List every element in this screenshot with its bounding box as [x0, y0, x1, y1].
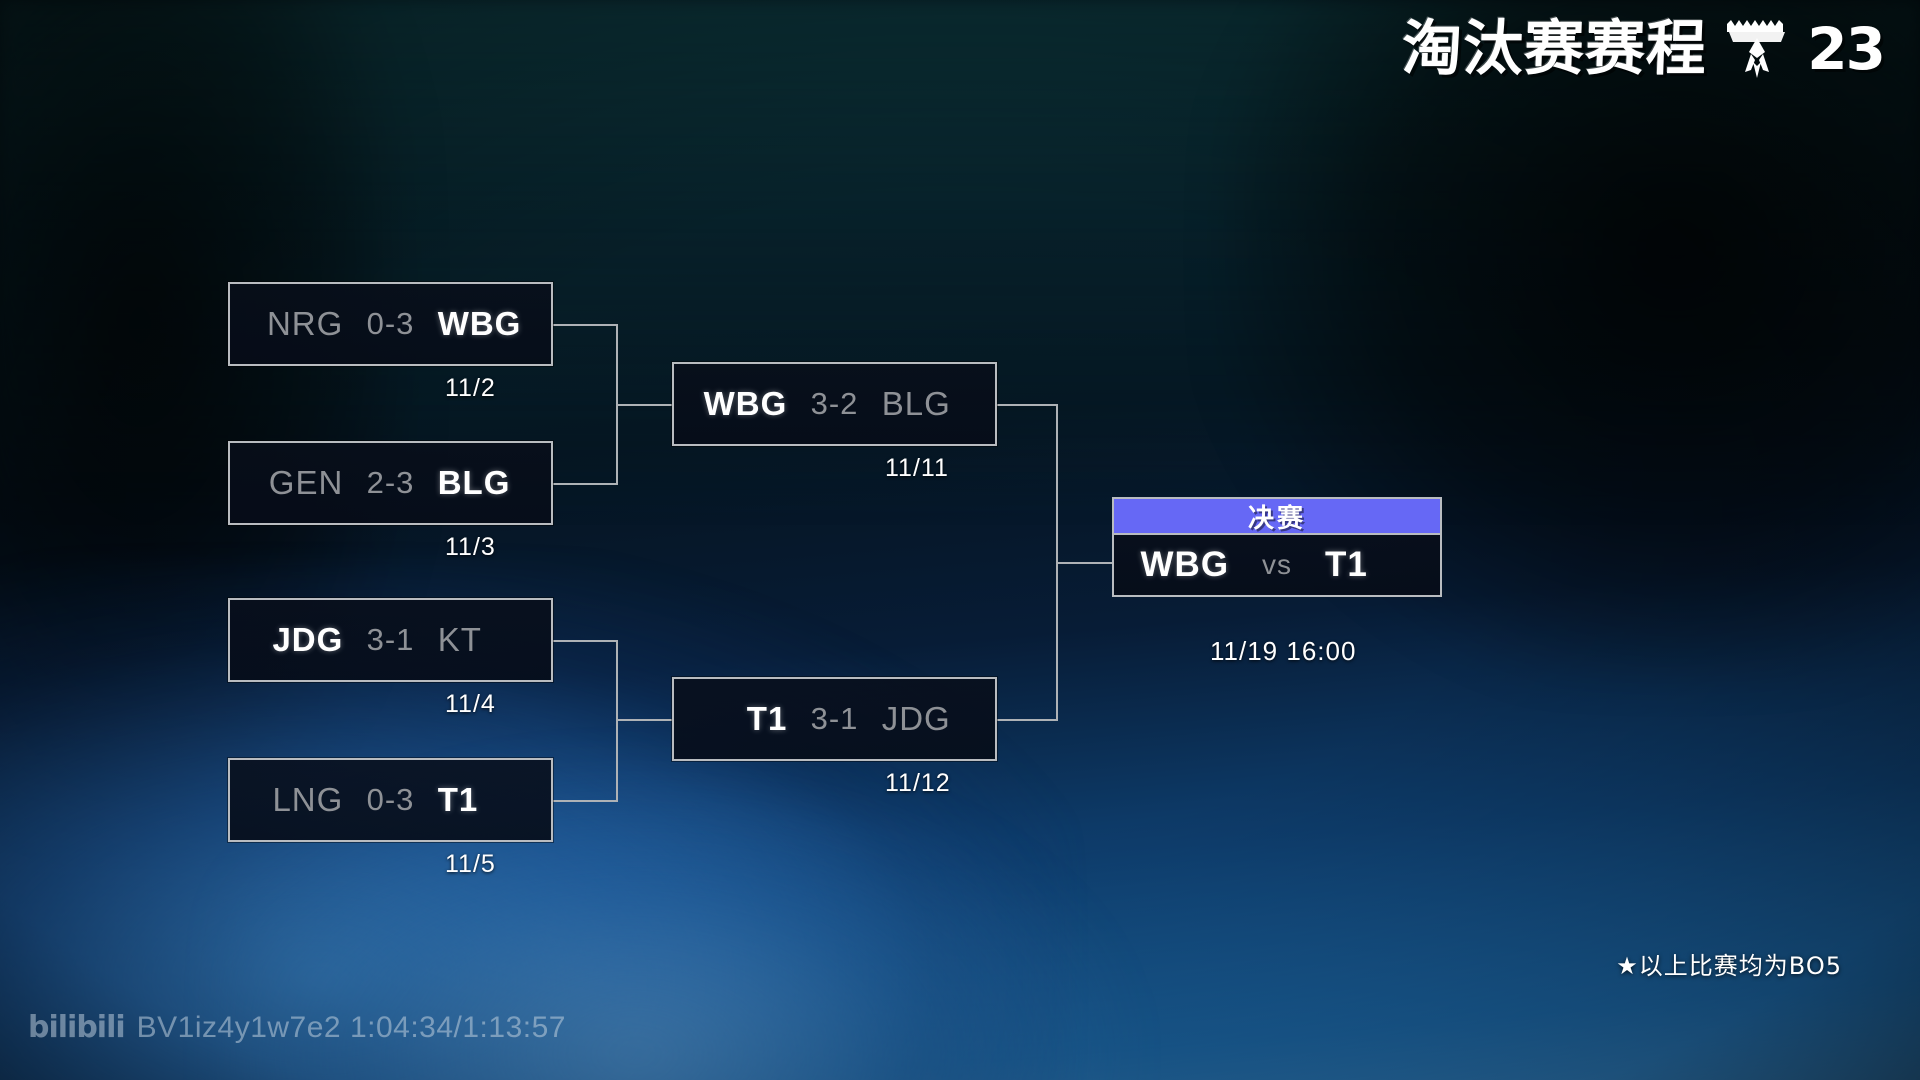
connector-sf1-to-final — [997, 404, 1057, 406]
match-row: LNG 0-3 T1 — [230, 781, 551, 819]
match-score: 3-1 — [343, 622, 437, 658]
final-label: 决赛 — [1248, 498, 1306, 535]
match-team-left: T1 — [674, 700, 787, 738]
match-box-semifinal-2[interactable]: T1 3-1 JDG — [672, 677, 997, 761]
match-row: JDG 3-1 KT — [230, 621, 551, 659]
match-team-right: BLG — [882, 385, 995, 423]
connector-qf3-out — [553, 640, 617, 642]
footnote-bo5: ★以上比赛均为BO5 — [1616, 946, 1842, 981]
page-title: 淘汰赛赛程 — [1401, 19, 1708, 79]
match-score: 0-3 — [343, 306, 437, 342]
connector-qf1-out — [553, 324, 617, 326]
match-team-right: KT — [438, 621, 551, 659]
broadcast-graphic: 淘汰赛赛程 23 NRG — [0, 0, 1920, 1080]
match-date-final: 11/19 16:00 — [1210, 636, 1356, 667]
match-date-quarterfinal-4: 11/5 — [445, 850, 496, 879]
match-team-left: WBG — [1114, 545, 1229, 585]
match-box-quarterfinal-2[interactable]: GEN 2-3 BLG — [228, 441, 553, 525]
bilibili-logo-icon: bilibili — [28, 1010, 125, 1045]
match-team-left: GEN — [230, 464, 343, 502]
final-header-bar: 决赛 — [1112, 497, 1442, 535]
match-score: 3-1 — [787, 701, 881, 737]
match-team-right: WBG — [438, 305, 551, 343]
match-box-quarterfinal-4[interactable]: LNG 0-3 T1 — [228, 758, 553, 842]
final-body: WBG vs T1 — [1112, 535, 1442, 597]
header-year: 23 — [1807, 20, 1884, 78]
match-box-quarterfinal-1[interactable]: NRG 0-3 WBG — [228, 282, 553, 366]
background-vignette — [0, 0, 1920, 1080]
match-score: 0-3 — [343, 782, 437, 818]
connector-sf1-in — [616, 404, 672, 406]
match-team-right: JDG — [882, 700, 995, 738]
connector-final-in — [1056, 562, 1114, 564]
watermark-text: BV1iz4y1w7e2 1:04:34/1:13:57 — [137, 1011, 566, 1045]
match-row: WBG 3-2 BLG — [674, 385, 995, 423]
match-team-left: WBG — [674, 385, 787, 423]
connector-qf4-out — [553, 800, 617, 802]
match-score: 3-2 — [787, 386, 881, 422]
match-row: NRG 0-3 WBG — [230, 305, 551, 343]
match-box-final[interactable]: 决赛 WBG vs T1 — [1112, 497, 1442, 597]
connector-sf2-to-final — [997, 719, 1057, 721]
match-date-semifinal-1: 11/11 — [885, 454, 949, 483]
match-date-quarterfinal-2: 11/3 — [445, 533, 496, 562]
match-team-right: T1 — [1325, 545, 1440, 585]
match-box-semifinal-1[interactable]: WBG 3-2 BLG — [672, 362, 997, 446]
match-vs-label: vs — [1229, 549, 1325, 581]
match-box-quarterfinal-3[interactable]: JDG 3-1 KT — [228, 598, 553, 682]
match-team-left: NRG — [230, 305, 343, 343]
bilibili-watermark: bilibili BV1iz4y1w7e2 1:04:34/1:13:57 — [28, 1010, 566, 1045]
match-row: WBG vs T1 — [1114, 545, 1440, 585]
worlds-trophy-icon — [1721, 18, 1793, 80]
match-score: 2-3 — [343, 465, 437, 501]
match-team-left: JDG — [230, 621, 343, 659]
match-row: GEN 2-3 BLG — [230, 464, 551, 502]
connector-sf2-vertical — [616, 640, 618, 802]
match-date-quarterfinal-1: 11/2 — [445, 374, 496, 403]
match-row: T1 3-1 JDG — [674, 700, 995, 738]
match-date-semifinal-2: 11/12 — [885, 769, 951, 798]
match-team-right: T1 — [438, 781, 551, 819]
header: 淘汰赛赛程 23 — [1402, 18, 1884, 80]
match-date-quarterfinal-3: 11/4 — [445, 690, 496, 719]
connector-sf2-in — [616, 719, 672, 721]
match-team-left: LNG — [230, 781, 343, 819]
match-team-right: BLG — [438, 464, 551, 502]
connector-qf2-out — [553, 483, 617, 485]
